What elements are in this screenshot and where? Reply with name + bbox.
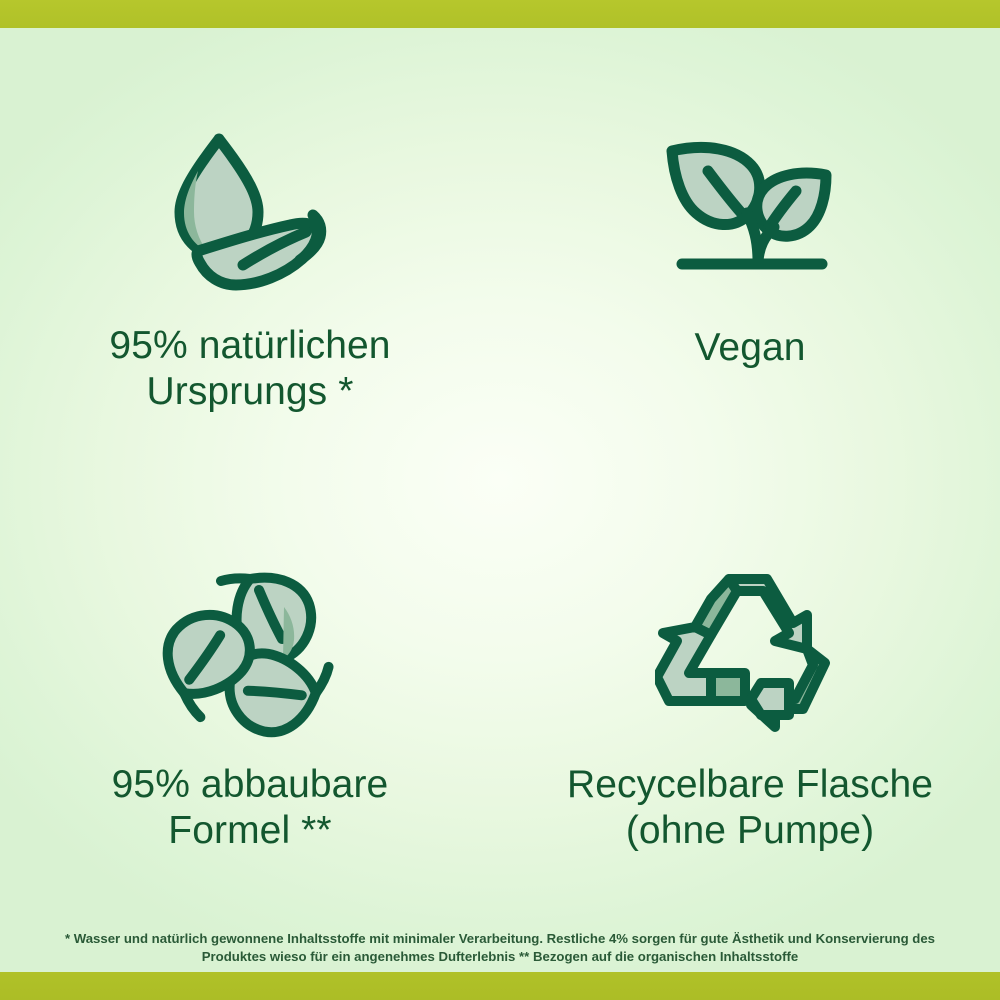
claims-grid: 95% natürlichen Ursprungs *	[0, 28, 1000, 918]
claim-label: Recycelbare Flasche (ohne Pumpe)	[567, 762, 933, 853]
eco-claims-poster: 95% natürlichen Ursprungs *	[0, 0, 1000, 1000]
claim-natural-origin: 95% natürlichen Ursprungs *	[0, 28, 500, 473]
sprout-icon	[650, 110, 850, 305]
claim-label: Vegan	[694, 325, 805, 371]
three-leaf-cycle-icon	[155, 557, 345, 752]
claim-biodegradable: 95% abbaubare Formel **	[0, 473, 500, 918]
recycle-icon	[655, 557, 845, 752]
bottom-accent-bar	[0, 972, 1000, 1000]
footnote-text: * Wasser und natürlich gewonnene Inhalts…	[60, 930, 940, 966]
claim-recyclable-bottle: Recycelbare Flasche (ohne Pumpe)	[500, 473, 1000, 918]
claim-label: 95% natürlichen Ursprungs *	[109, 323, 390, 414]
claim-vegan: Vegan	[500, 28, 1000, 473]
droplet-leaf-icon	[150, 110, 350, 305]
claim-label: 95% abbaubare Formel **	[112, 762, 389, 853]
top-accent-bar	[0, 0, 1000, 28]
